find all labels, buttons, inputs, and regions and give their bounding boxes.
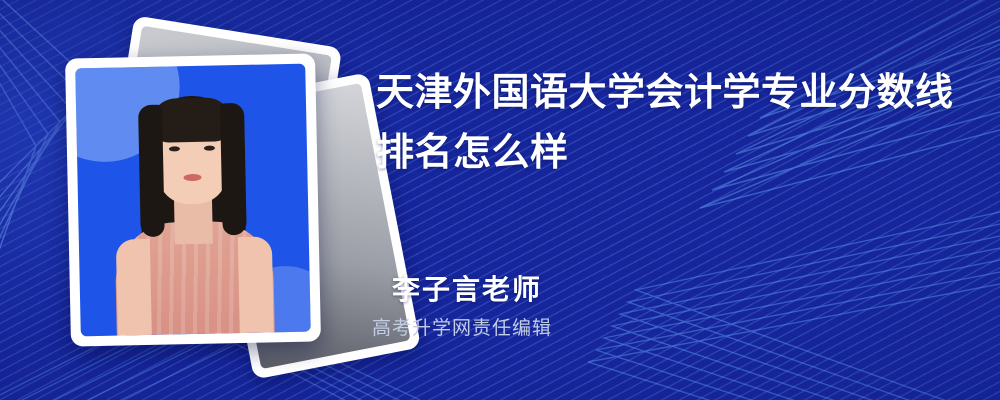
teacher-portrait-photo: [75, 64, 311, 337]
portrait-hair-strand-left: [138, 105, 165, 237]
page-title-line-1: 天津外国语大学会计学专业分数线: [376, 62, 976, 122]
portrait-shoulder-left: [116, 239, 152, 336]
photo-card-front: [65, 53, 321, 346]
author-role: 高考升学网责任编辑: [372, 314, 952, 342]
portrait-hair-strand-right: [220, 103, 247, 235]
author-block: 李子言老师 高考升学网责任编辑: [392, 272, 952, 342]
portrait-figure: [75, 64, 311, 337]
photo-card-stack: [48, 28, 358, 368]
page-title: 天津外国语大学会计学专业分数线 排名怎么样: [376, 62, 976, 182]
author-banner: 天津外国语大学会计学专业分数线 排名怎么样 李子言老师 高考升学网责任编辑: [0, 0, 1000, 400]
portrait-shoulder-right: [238, 236, 274, 333]
author-name: 李子言老师: [392, 272, 952, 308]
page-title-line-2: 排名怎么样: [376, 122, 976, 182]
headline-block: 天津外国语大学会计学专业分数线 排名怎么样: [376, 62, 976, 182]
